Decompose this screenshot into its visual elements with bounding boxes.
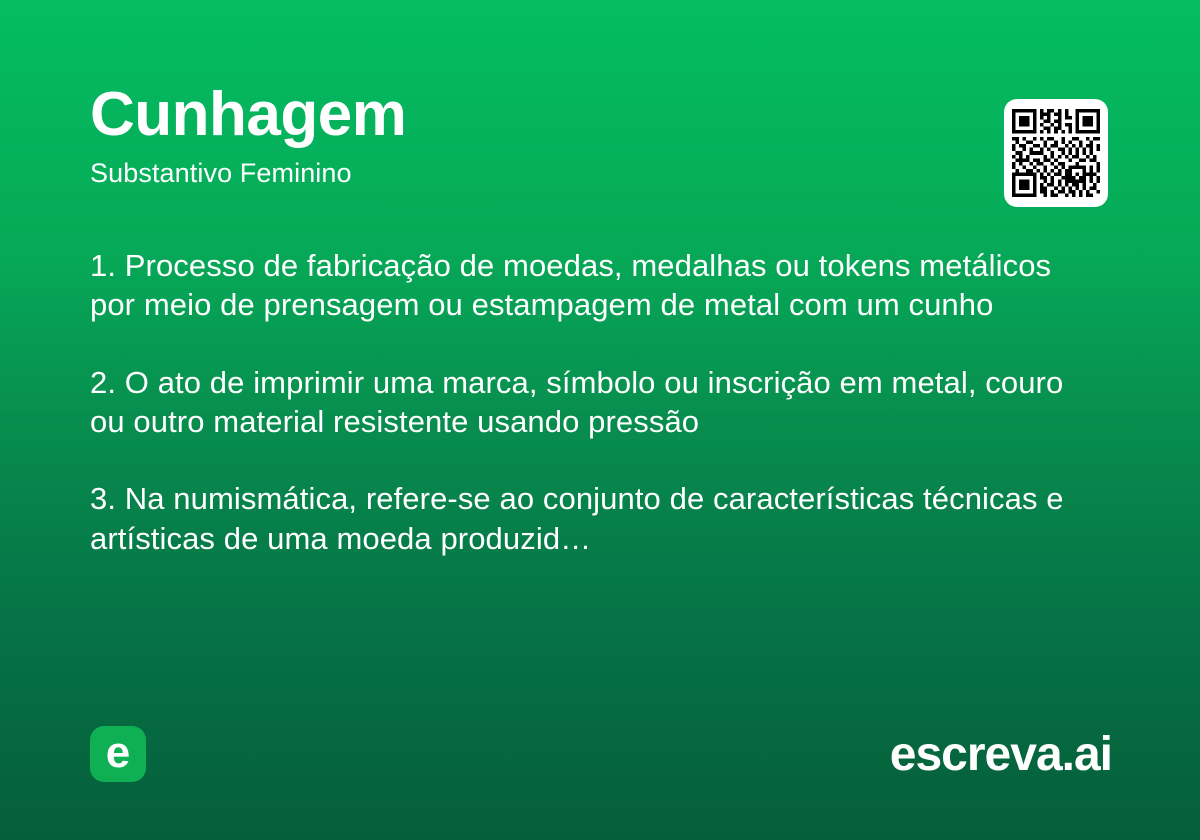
logo-letter: e — [90, 726, 146, 782]
word-class-label: Substantivo Feminino — [90, 160, 1110, 187]
definition-item: 2. O ato de imprimir uma marca, símbolo … — [90, 363, 1095, 442]
card-footer: e escreva.ai — [90, 726, 1112, 784]
definition-list: 1. Processo de fabricação de moedas, med… — [90, 246, 1095, 558]
escreva-logo-icon: e — [90, 726, 146, 782]
brand-wordmark: escreva.ai — [890, 731, 1112, 779]
qr-code-icon — [1012, 108, 1100, 198]
dictionary-card: Cunhagem Substantivo Feminino — [0, 0, 1200, 840]
page-title: Cunhagem — [90, 84, 1110, 146]
qr-code-panel[interactable] — [1004, 99, 1108, 207]
definition-item: 1. Processo de fabricação de moedas, med… — [90, 246, 1095, 325]
card-header: Cunhagem Substantivo Feminino — [90, 84, 1110, 214]
definition-item: 3. Na numismática, refere-se ao conjunto… — [90, 479, 1095, 558]
